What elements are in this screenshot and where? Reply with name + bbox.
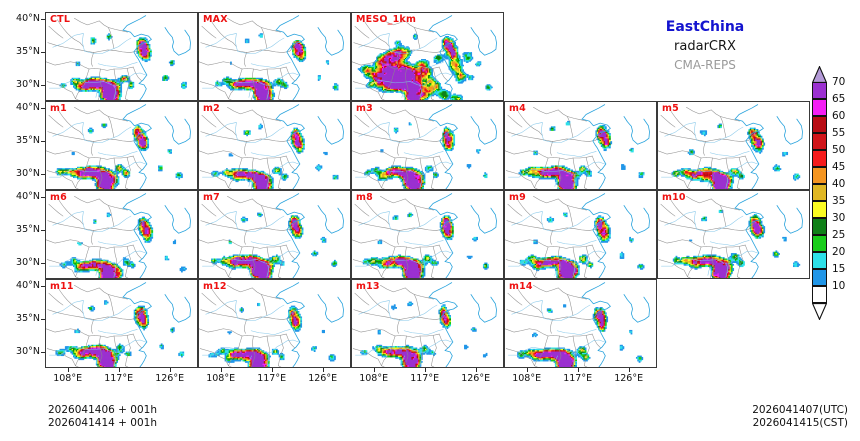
colorbar-tick-label: 45 — [832, 162, 845, 173]
y-axis-label: 30°N — [0, 258, 40, 268]
radar-map-canvas — [505, 280, 657, 368]
region-title: EastChina — [600, 18, 810, 37]
radar-map-canvas — [46, 191, 198, 279]
colorbar-tick-label: 20 — [832, 247, 845, 258]
colorbar-segment — [812, 167, 827, 184]
y-axis-tick — [41, 19, 45, 20]
x-axis-tick — [170, 368, 171, 372]
y-axis-label: 40°N — [0, 103, 40, 113]
colorbar-segment — [812, 82, 827, 99]
panel-label: m9 — [509, 192, 526, 203]
colorbar-tick-label: 35 — [832, 196, 845, 207]
y-axis-tick — [41, 230, 45, 231]
y-axis-tick — [41, 141, 45, 142]
panel-label: m13 — [356, 281, 380, 292]
y-axis-tick — [41, 174, 45, 175]
y-axis-label: 35°N — [0, 314, 40, 324]
footer-right-line1: 2026041407(UTC) — [752, 404, 848, 416]
y-axis-label: 40°N — [0, 192, 40, 202]
colorbar-segment — [812, 286, 827, 303]
colorbar-tick-label: 40 — [832, 179, 845, 190]
colorbar-segment — [812, 218, 827, 235]
y-axis-label: 30°N — [0, 169, 40, 179]
map-panel-m7[interactable]: m7 — [198, 190, 351, 279]
map-panel-m1[interactable]: m1 — [45, 101, 198, 190]
map-panel-max[interactable]: MAX — [198, 12, 351, 101]
x-axis-tick — [119, 368, 120, 372]
colorbar-tick-label: 65 — [832, 94, 845, 105]
panel-label: MAX — [203, 14, 228, 25]
x-axis-label: 108°E — [351, 374, 397, 384]
panel-label: m8 — [356, 192, 373, 203]
x-axis-label: 117°E — [402, 374, 448, 384]
y-axis-label: 40°N — [0, 281, 40, 291]
footer-left-line2: 2026041414 + 001h — [48, 417, 157, 429]
panel-label: m3 — [356, 103, 373, 114]
map-panel-m4[interactable]: m4 — [504, 101, 657, 190]
x-axis-tick — [425, 368, 426, 372]
panel-label: m6 — [50, 192, 67, 203]
radar-map-canvas — [352, 280, 504, 368]
map-panel-m6[interactable]: m6 — [45, 190, 198, 279]
x-axis-tick — [374, 368, 375, 372]
panel-label: m10 — [662, 192, 686, 203]
panel-label: m2 — [203, 103, 220, 114]
radar-map-canvas — [46, 102, 198, 190]
y-axis-tick — [41, 352, 45, 353]
x-axis-tick — [476, 368, 477, 372]
colorbar-tick-label: 10 — [832, 281, 845, 292]
colorbar-tick-label: 50 — [832, 145, 845, 156]
x-axis-tick — [272, 368, 273, 372]
y-axis-label: 40°N — [0, 14, 40, 24]
x-axis-label: 126°E — [300, 374, 346, 384]
radar-map-canvas — [199, 102, 351, 190]
colorbar-segment — [812, 184, 827, 201]
radar-map-canvas — [352, 13, 504, 101]
colorbar-bottom-arrow — [812, 303, 827, 319]
map-panel-ctl[interactable]: CTL — [45, 12, 198, 101]
panel-label: m7 — [203, 192, 220, 203]
map-panel-m11[interactable]: m11 — [45, 279, 198, 368]
radar-map-canvas — [658, 102, 810, 190]
colorbar-tick-label: 30 — [832, 213, 845, 224]
panel-label: m12 — [203, 281, 227, 292]
colorbar-top-arrow — [812, 66, 827, 82]
colorbar-tick-label: 55 — [832, 128, 845, 139]
map-panel-m3[interactable]: m3 — [351, 101, 504, 190]
panel-label: MESO_1km — [356, 14, 416, 25]
panel-label: m4 — [509, 103, 526, 114]
map-panel-m10[interactable]: m10 — [657, 190, 810, 279]
colorbar-segment — [812, 99, 827, 116]
radar-map-canvas — [199, 191, 351, 279]
map-panel-m5[interactable]: m5 — [657, 101, 810, 190]
map-panel-m13[interactable]: m13 — [351, 279, 504, 368]
panel-label: m11 — [50, 281, 74, 292]
y-axis-tick — [41, 108, 45, 109]
x-axis-label: 117°E — [555, 374, 601, 384]
colorbar-segment — [812, 116, 827, 133]
colorbar: 70656055504540353025201510 — [806, 66, 860, 336]
y-axis-label: 35°N — [0, 225, 40, 235]
map-panel-m14[interactable]: m14 — [504, 279, 657, 368]
x-axis-tick — [221, 368, 222, 372]
x-axis-tick — [578, 368, 579, 372]
radar-map-canvas — [199, 280, 351, 368]
x-axis-tick — [527, 368, 528, 372]
panel-label: m14 — [509, 281, 533, 292]
colorbar-segment — [812, 133, 827, 150]
footer-left: 2026041406 + 001h2026041414 + 001h — [48, 404, 157, 430]
footer-right-line2: 2026041415(CST) — [753, 417, 848, 429]
x-axis-label: 126°E — [453, 374, 499, 384]
panel-label: m1 — [50, 103, 67, 114]
colorbar-segment — [812, 150, 827, 167]
y-axis-label: 30°N — [0, 80, 40, 90]
radar-map-canvas — [505, 191, 657, 279]
footer-right: 2026041407(UTC)2026041415(CST) — [752, 404, 848, 430]
radar-map-canvas — [46, 280, 198, 368]
x-axis-label: 108°E — [504, 374, 550, 384]
y-axis-tick — [41, 319, 45, 320]
model-title: CMA-REPS — [600, 56, 810, 74]
x-axis-label: 108°E — [198, 374, 244, 384]
radar-map-canvas — [658, 191, 810, 279]
x-axis-label: 117°E — [249, 374, 295, 384]
map-panel-m12[interactable]: m12 — [198, 279, 351, 368]
x-axis-tick — [629, 368, 630, 372]
x-axis-label: 126°E — [147, 374, 193, 384]
figure-root: CTLMAXMESO_1kmm1m2m3m4m5m6m7m8m9m10m11m1… — [0, 0, 860, 441]
radar-map-canvas — [199, 13, 351, 101]
map-panel-m2[interactable]: m2 — [198, 101, 351, 190]
map-panel-meso_1km[interactable]: MESO_1km — [351, 12, 504, 101]
colorbar-segment — [812, 235, 827, 252]
y-axis-label: 30°N — [0, 347, 40, 357]
colorbar-tick-label: 70 — [832, 77, 845, 88]
x-axis-label: 126°E — [606, 374, 652, 384]
x-axis-label: 108°E — [45, 374, 91, 384]
footer-left-line1: 2026041406 + 001h — [48, 404, 157, 416]
colorbar-segment — [812, 269, 827, 286]
panel-label: CTL — [50, 14, 70, 25]
map-panel-m9[interactable]: m9 — [504, 190, 657, 279]
radar-map-canvas — [46, 13, 198, 101]
x-axis-label: 117°E — [96, 374, 142, 384]
map-panel-m8[interactable]: m8 — [351, 190, 504, 279]
y-axis-tick — [41, 197, 45, 198]
radar-map-canvas — [352, 102, 504, 190]
radar-map-canvas — [505, 102, 657, 190]
colorbar-tick-label: 25 — [832, 230, 845, 241]
variable-title: radarCRX — [600, 37, 810, 56]
y-axis-tick — [41, 286, 45, 287]
colorbar-segment — [812, 201, 827, 218]
colorbar-tick-label: 60 — [832, 111, 845, 122]
y-axis-tick — [41, 52, 45, 53]
title-block: EastChina radarCRX CMA-REPS — [600, 18, 810, 74]
y-axis-label: 35°N — [0, 136, 40, 146]
radar-map-canvas — [352, 191, 504, 279]
panel-label: m5 — [662, 103, 679, 114]
colorbar-segment — [812, 252, 827, 269]
x-axis-tick — [68, 368, 69, 372]
y-axis-tick — [41, 263, 45, 264]
x-axis-tick — [323, 368, 324, 372]
y-axis-tick — [41, 85, 45, 86]
colorbar-tick-label: 15 — [832, 264, 845, 275]
y-axis-label: 35°N — [0, 47, 40, 57]
